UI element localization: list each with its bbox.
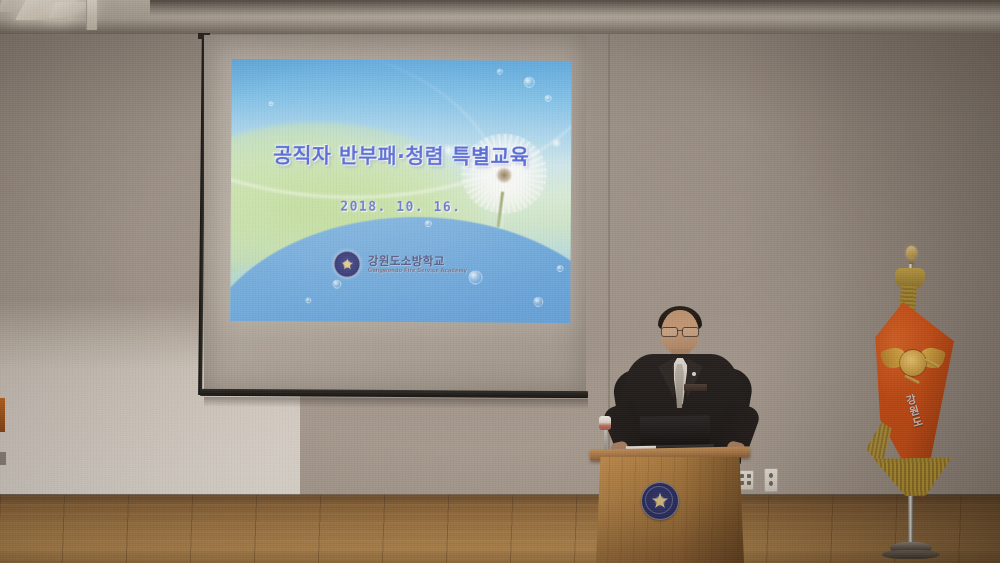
fire-service-emblem-icon xyxy=(334,251,361,278)
ceiling-vent xyxy=(86,0,97,30)
slide-bubble xyxy=(533,297,543,307)
slide-organization-texts: 강원도소방학교 Gangwondo Fire Service Academy xyxy=(368,254,467,275)
speaker-name-tag xyxy=(684,384,707,391)
slide-date: 2018. 10. 16. xyxy=(231,199,571,216)
projection-screen: 공직자 반부패·청렴 특별교육 2018. 10. 16. 강원도소방학교 Ga… xyxy=(198,33,588,403)
glasses-lens-left xyxy=(661,327,678,337)
left-edge-box xyxy=(0,452,6,465)
slide-bubble xyxy=(425,220,432,227)
slide-bubble xyxy=(544,95,551,102)
flag-finial-icon xyxy=(906,246,917,259)
slide-organization-name-kr: 강원도소방학교 xyxy=(368,254,467,268)
flag-emblem-flower xyxy=(900,350,926,376)
slide-title: 공직자 반부패·청렴 특별교육 xyxy=(231,138,571,170)
speaker-at-podium xyxy=(588,296,778,563)
lapel-pin-icon xyxy=(692,372,696,376)
ceiling-soffit-shadow xyxy=(150,0,1000,16)
podium-emblem-ring xyxy=(645,486,673,514)
lecture-hall-photo: 공직자 반부패·청렴 특별교육 2018. 10. 16. 강원도소방학교 Ga… xyxy=(0,0,1000,563)
slide-organization-name-en: Gangwondo Fire Service Academy xyxy=(368,268,467,276)
microphone-icon xyxy=(599,416,611,430)
projected-slide: 공직자 반부패·청렴 특별교육 2018. 10. 16. 강원도소방학교 Ga… xyxy=(230,59,572,323)
ceremonial-flag: 강원도 xyxy=(862,246,980,563)
flag-tassel-top xyxy=(895,268,925,288)
glasses-lens-right xyxy=(682,327,699,337)
flag-winged-emblem-icon xyxy=(884,338,942,388)
slide-organization: 강원도소방학교 Gangwondo Fire Service Academy xyxy=(230,250,570,279)
flag-fringe-bottom xyxy=(874,457,953,496)
left-edge-object xyxy=(0,398,5,432)
flag-emblem-bar xyxy=(904,375,920,385)
flag-stand-foot xyxy=(882,550,940,559)
speaker-glasses xyxy=(660,327,700,335)
